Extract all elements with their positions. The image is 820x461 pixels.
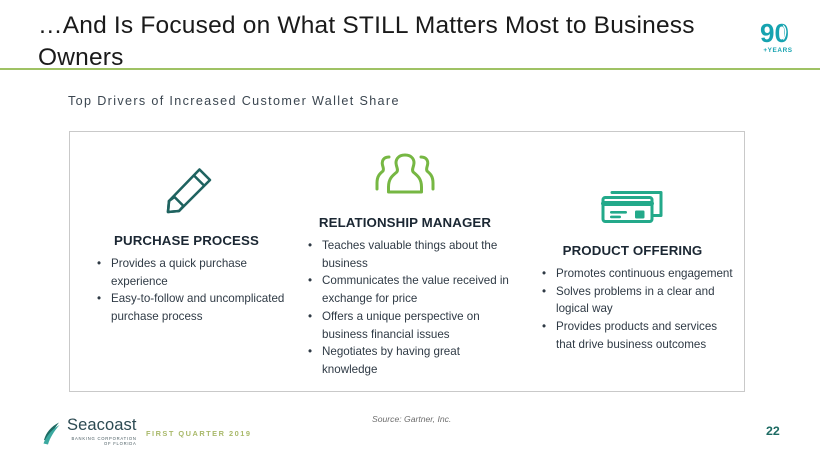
brand-name: Seacoast: [67, 417, 137, 434]
pencil-icon: [87, 131, 286, 217]
list-item: •Offers a unique perspective on business…: [302, 308, 510, 343]
seacoast-logo: Seacoast BANKING CORPORATION OF FLORIDA: [41, 417, 137, 447]
source-note: Source: Gartner, Inc.: [372, 414, 451, 424]
list-item: •Easy-to-follow and uncomplicated purcha…: [91, 290, 286, 325]
brand-tagline-line2: OF FLORIDA: [67, 441, 137, 447]
column-product-offering: PRODUCT OFFERING •Promotes continuous en…: [520, 131, 745, 392]
list-item-text: Communicates the value received in excha…: [322, 274, 509, 305]
list-item: •Teaches valuable things about the busin…: [302, 237, 510, 272]
page-number: 22: [766, 424, 780, 438]
list-item-text: Solves problems in a clear and logical w…: [556, 285, 715, 316]
list-item: •Communicates the value received in exch…: [302, 272, 510, 307]
ninety-years-icon: 90: [760, 20, 796, 46]
page-title: …And Is Focused on What STILL Matters Mo…: [38, 10, 698, 74]
bullet-list: •Provides a quick purchase experience •E…: [91, 255, 286, 326]
bullet-list: •Teaches valuable things about the busin…: [302, 237, 510, 379]
column-heading: PURCHASE PROCESS: [87, 233, 286, 248]
bullet-glyph: •: [97, 290, 101, 308]
quarter-label: FIRST QUARTER 2019: [146, 429, 251, 438]
bullet-list: •Promotes continuous engagement •Solves …: [536, 265, 735, 354]
slide-canvas: …And Is Focused on What STILL Matters Mo…: [0, 0, 820, 461]
list-item-text: Easy-to-follow and uncomplicated purchas…: [111, 292, 284, 323]
seacoast-wordmark: Seacoast BANKING CORPORATION OF FLORIDA: [67, 417, 137, 447]
list-item-text: Promotes continuous engagement: [556, 267, 733, 280]
list-item-text: Provides products and services that driv…: [556, 320, 717, 351]
list-item: •Provides a quick purchase experience: [91, 255, 286, 290]
bullet-glyph: •: [308, 308, 312, 326]
people-group-icon: [300, 131, 510, 201]
header-divider: [0, 68, 820, 70]
bullet-glyph: •: [308, 272, 312, 290]
bullet-glyph: •: [542, 318, 546, 336]
list-item: •Provides products and services that dri…: [536, 318, 735, 353]
column-relationship-manager: RELATIONSHIP MANAGER •Teaches valuable t…: [294, 131, 520, 392]
column-heading: RELATIONSHIP MANAGER: [300, 215, 510, 230]
bullet-glyph: •: [308, 237, 312, 255]
seacoast-mark-icon: [41, 420, 63, 446]
svg-text:90: 90: [760, 20, 789, 46]
list-item: •Negotiates by having great knowledge: [302, 343, 510, 378]
list-item-text: Teaches valuable things about the busine…: [322, 239, 497, 270]
bullet-glyph: •: [542, 265, 546, 283]
bullet-glyph: •: [97, 255, 101, 273]
column-purchase-process: PURCHASE PROCESS •Provides a quick purch…: [69, 131, 294, 392]
list-item-text: Offers a unique perspective on business …: [322, 310, 480, 341]
bullet-glyph: •: [542, 283, 546, 301]
list-item: •Promotes continuous engagement: [536, 265, 735, 283]
list-item-text: Provides a quick purchase experience: [111, 257, 247, 288]
years-label: +YEARS: [763, 47, 792, 54]
list-item: •Solves problems in a clear and logical …: [536, 283, 735, 318]
bullet-glyph: •: [308, 343, 312, 361]
column-heading: PRODUCT OFFERING: [530, 243, 735, 258]
ninety-years-badge: 90 +YEARS: [752, 20, 804, 64]
columns-container: PURCHASE PROCESS •Provides a quick purch…: [69, 131, 745, 392]
credit-cards-icon: [530, 131, 735, 229]
section-subtitle: Top Drivers of Increased Customer Wallet…: [68, 94, 400, 108]
list-item-text: Negotiates by having great knowledge: [322, 345, 460, 376]
